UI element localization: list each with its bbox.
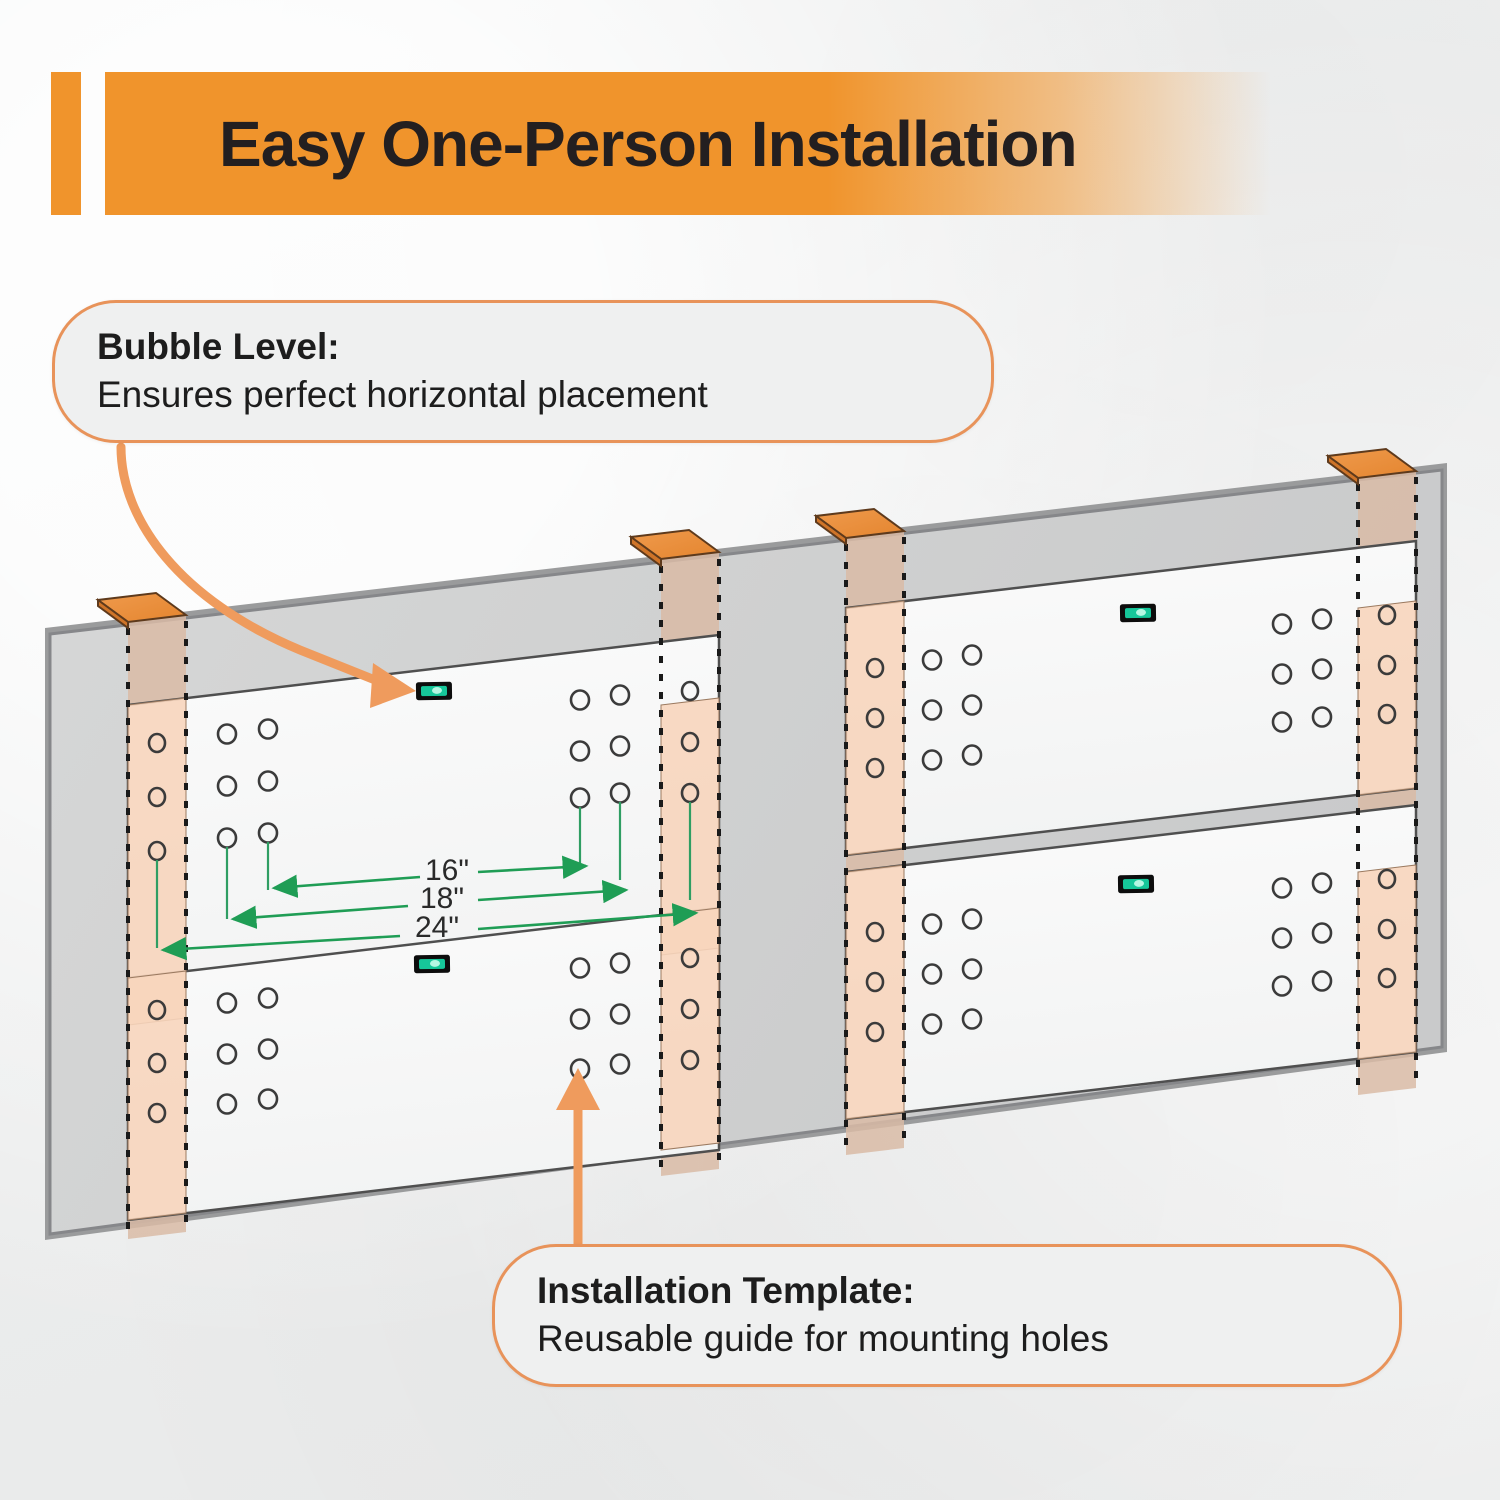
callout-bubble-level-title: Bubble Level:	[97, 325, 949, 369]
page-title: Easy One-Person Installation	[219, 112, 1077, 176]
stud-3-over-panel-a	[846, 601, 904, 855]
callout-bubble-level: Bubble Level: Ensures perfect horizontal…	[52, 300, 994, 443]
stud-4-over-panel-a	[1358, 601, 1416, 795]
header-accent-bar	[51, 72, 81, 215]
stud-1	[128, 615, 186, 1239]
panel-top-right-face	[846, 541, 1416, 855]
stud-3-cap	[816, 509, 904, 544]
panel-bottom-left-face	[128, 908, 719, 1220]
stud-2-over-panel-a	[661, 698, 719, 955]
stud-2	[661, 552, 719, 1176]
wall-face	[50, 470, 1442, 1234]
dimension-leaders	[157, 802, 690, 948]
panel-bottom-right	[846, 805, 1416, 1119]
callout-installation-template-body: Reusable guide for mounting holes	[537, 1317, 1357, 1361]
panel-top-left	[128, 635, 719, 1025]
stud-4	[1358, 471, 1416, 1095]
stud-4-cap	[1328, 449, 1416, 484]
stud-3-over-panel-b	[846, 865, 904, 1119]
dimension-16-line-left	[274, 877, 420, 888]
header-banner: Easy One-Person Installation	[51, 72, 1271, 215]
callout-installation-template: Installation Template: Reusable guide fo…	[492, 1244, 1402, 1387]
bubble-level-top-right	[1120, 604, 1156, 623]
panel-bottom-left	[128, 908, 719, 1220]
panel-bottom-right-face	[846, 805, 1416, 1119]
installation-template-pointer	[556, 1068, 600, 1244]
wall-edge	[45, 463, 1447, 1240]
dimension-18-line-right	[478, 890, 626, 900]
dimension-24-line-right	[478, 913, 696, 929]
bubble-level-bottom-right	[1118, 875, 1154, 894]
stud-3	[846, 531, 904, 1155]
stud-3-body	[846, 531, 904, 1155]
stud-2-body	[661, 552, 719, 1176]
stud-2-over-panel-b	[661, 908, 719, 1150]
stud-1-body	[128, 615, 186, 1239]
bubble-level-bottom-left	[414, 955, 450, 974]
wall-assembly	[45, 463, 1447, 1240]
dimension-16-line-right	[478, 866, 586, 872]
dimension-labels: 16" 18" 24"	[415, 854, 469, 944]
dimension-24-line-left	[163, 936, 400, 950]
callout-installation-template-title: Installation Template:	[537, 1269, 1357, 1313]
dimension-24-label: 24"	[415, 911, 459, 944]
stud-4-body	[1358, 471, 1416, 1095]
dimension-16-label: 16"	[425, 854, 469, 887]
stud-4-over-panel-b	[1358, 865, 1416, 1059]
stud-1-over-panel-a	[128, 698, 186, 1025]
bubble-level-pointer	[121, 447, 416, 708]
mounting-holes	[149, 606, 1395, 1122]
dimension-18-line-left	[233, 906, 408, 919]
callout-bubble-level-body: Ensures perfect horizontal placement	[97, 373, 949, 417]
panel-top-left-face	[128, 635, 719, 1025]
stud-1-cap	[98, 593, 186, 628]
stud-dotted-edges	[128, 477, 1416, 1240]
dimension-18-label: 18"	[420, 882, 464, 915]
stud-1-over-panel-b	[128, 971, 186, 1220]
panel-top-right	[846, 541, 1416, 855]
dimension-arrows	[163, 866, 696, 950]
bubble-level-top-left	[416, 682, 452, 701]
stud-2-cap	[631, 530, 719, 566]
